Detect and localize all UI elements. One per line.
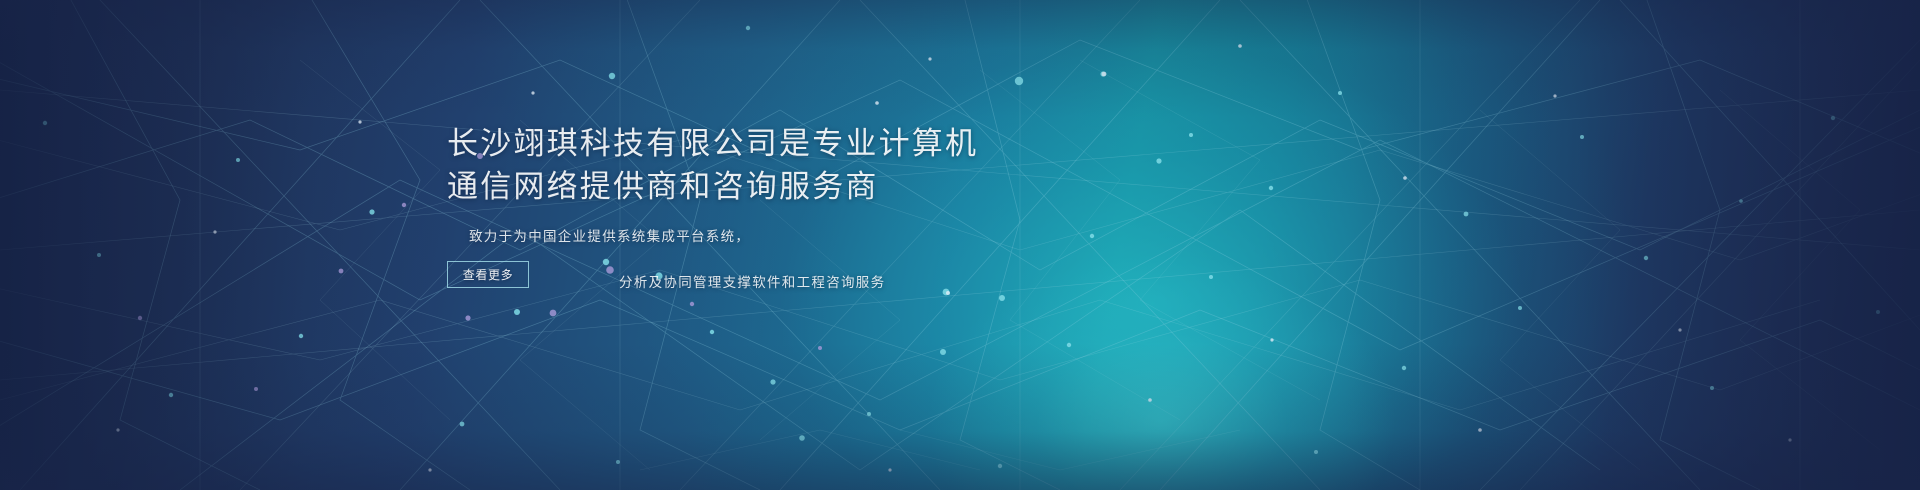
view-more-button[interactable]: 查看更多 — [447, 261, 529, 288]
hero-banner: 长沙翊琪科技有限公司是专业计算机 通信网络提供商和咨询服务商 致力于为中国企业提… — [0, 0, 1920, 490]
headline-line-2: 通信网络提供商和咨询服务商 — [447, 165, 1207, 208]
subtitle-line-1: 致力于为中国企业提供系统集成平台系统， — [469, 225, 1207, 245]
subtitle-line-2: 分析及协同管理支撑软件和工程咨询服务 — [619, 271, 1207, 291]
headline-line-1: 长沙翊琪科技有限公司是专业计算机 — [447, 122, 1207, 165]
hero-content: 长沙翊琪科技有限公司是专业计算机 通信网络提供商和咨询服务商 致力于为中国企业提… — [447, 122, 1207, 291]
